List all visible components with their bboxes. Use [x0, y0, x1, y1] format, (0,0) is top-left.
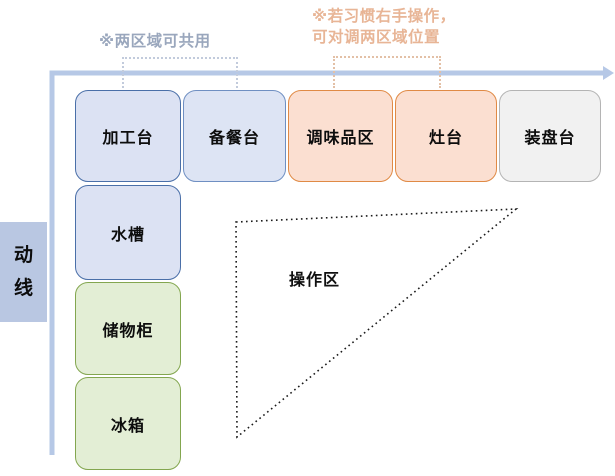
bracket-swap-leg-right	[439, 56, 441, 88]
station-refrigerator[interactable]: 冰箱	[75, 377, 181, 470]
annotation-swap-note: ※若习惯右手操作， 可对调两区域位置	[312, 6, 456, 49]
bracket-swap-leg-left	[333, 56, 335, 88]
station-plating-counter[interactable]: 装盘台	[499, 90, 601, 182]
flow-line-label: 动 线	[0, 222, 47, 322]
station-stove[interactable]: 灶台	[395, 90, 497, 182]
annotation-share-note: ※两区域可共用	[99, 31, 211, 52]
station-sink[interactable]: 水槽	[75, 185, 181, 280]
flow-line-label-char1: 动	[14, 239, 33, 272]
work-triangle-label: 操作区	[289, 266, 340, 290]
bracket-swap-bar	[333, 56, 441, 58]
bracket-share-leg-left	[122, 57, 124, 88]
station-storage-cabinet[interactable]: 储物柜	[75, 282, 181, 375]
flow-line-label-char2: 线	[14, 272, 33, 305]
work-triangle-shape	[236, 209, 516, 437]
bracket-share-leg-right	[236, 57, 238, 88]
kitchen-layout-diagram: 动 线 ※两区域可共用 ※若习惯右手操作， 可对调两区域位置 加工台 备餐台 调…	[0, 0, 615, 476]
station-seasoning-area[interactable]: 调味品区	[288, 90, 393, 182]
station-prep-counter[interactable]: 备餐台	[183, 90, 286, 182]
station-processing-counter[interactable]: 加工台	[75, 90, 181, 182]
bracket-share-bar	[122, 57, 238, 59]
